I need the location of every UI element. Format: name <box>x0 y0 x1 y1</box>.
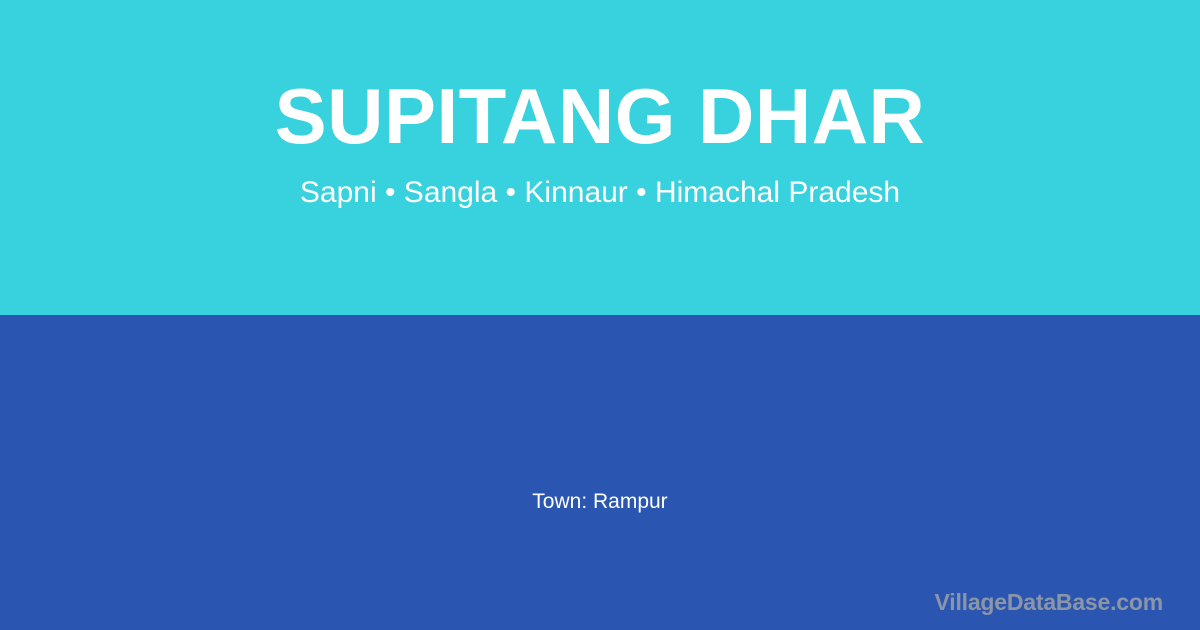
town-detail-text: Town: Rampur <box>0 489 1200 515</box>
site-watermark: VillageDataBase.com <box>935 589 1163 616</box>
village-info-banner: SUPITANG DHAR Sapni • Sangla • Kinnaur •… <box>0 0 1200 630</box>
page-title: SUPITANG DHAR <box>275 78 926 154</box>
banner-header-band: SUPITANG DHAR Sapni • Sangla • Kinnaur •… <box>0 0 1200 315</box>
banner-body-band: Town: Rampur VillageDataBase.com <box>0 315 1200 630</box>
breadcrumb: Sapni • Sangla • Kinnaur • Himachal Prad… <box>300 176 900 210</box>
